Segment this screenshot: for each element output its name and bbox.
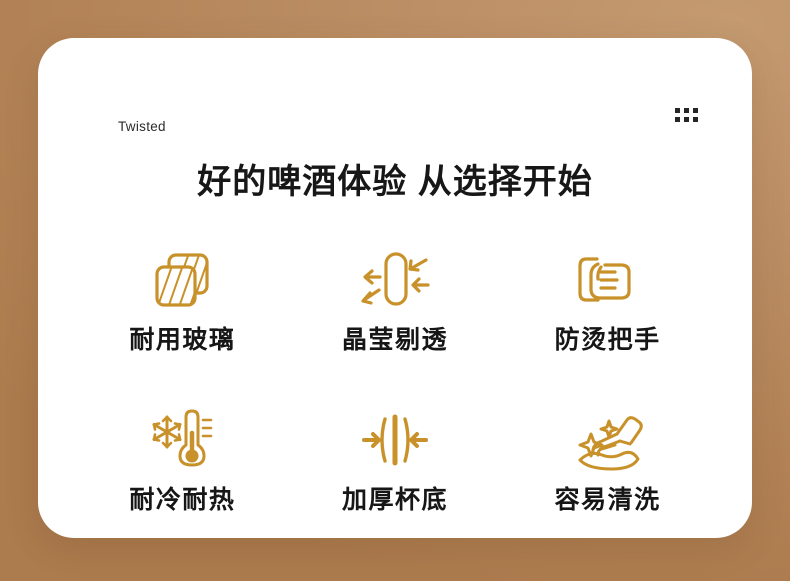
feature-item-anti-scald-handle: 防烫把手 <box>501 234 714 386</box>
feature-label: 耐冷耐热 <box>129 488 235 513</box>
feature-item-durable-glass: 耐用玻璃 <box>76 234 289 386</box>
thickness-arrows-icon <box>358 394 432 486</box>
feature-item-easy-clean: 容易清洗 <box>501 394 714 538</box>
feature-label: 容易清洗 <box>555 488 661 513</box>
shining-capsule-icon <box>358 234 432 326</box>
feature-label: 耐用玻璃 <box>129 328 235 353</box>
snowflake-thermometer-icon <box>145 394 219 486</box>
hand-gripping-handle-icon <box>571 234 645 326</box>
grid-dot <box>693 117 698 122</box>
grid-dot <box>675 108 680 113</box>
grid-dot <box>684 117 689 122</box>
stacked-glass-panes-icon <box>145 234 219 326</box>
grid-dot <box>684 108 689 113</box>
feature-label: 晶莹剔透 <box>342 328 448 353</box>
feature-item-thick-base: 加厚杯底 <box>289 394 502 538</box>
feature-item-crystal-clear: 晶莹剔透 <box>289 234 502 386</box>
grid-dot <box>675 117 680 122</box>
feature-card: Twisted 好的啤酒体验 从选择开始 <box>38 38 752 538</box>
feature-grid: 耐用玻璃 <box>76 234 714 538</box>
page-title: 好的啤酒体验 从选择开始 <box>38 162 752 203</box>
grid-dots-icon[interactable] <box>675 108 698 122</box>
feature-label: 防烫把手 <box>555 328 661 353</box>
slide-canvas: Twisted 好的啤酒体验 从选择开始 <box>0 0 790 581</box>
brand-name: Twisted <box>118 120 166 134</box>
feature-item-temperature-resistant: 耐冷耐热 <box>76 394 289 538</box>
grid-dot <box>693 108 698 113</box>
feature-label: 加厚杯底 <box>342 488 448 513</box>
hand-wiping-sparkle-icon <box>568 394 648 486</box>
